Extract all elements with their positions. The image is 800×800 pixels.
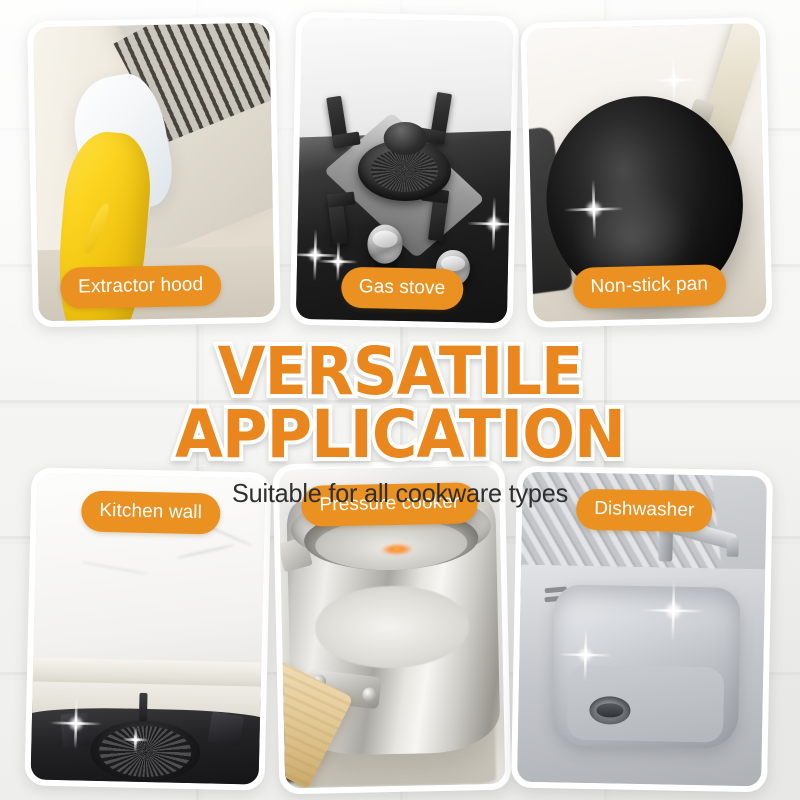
- panel-label-gas-stove[interactable]: Gas stove: [340, 267, 463, 311]
- panel-label-extractor-hood[interactable]: Extractor hood: [60, 265, 222, 309]
- panel-extractor-hood[interactable]: Extractor hood: [27, 17, 281, 328]
- page-title: VERSATILE APPLICATION: [24, 340, 776, 467]
- panel-non-stick-pan[interactable]: Non-stick pan: [520, 17, 772, 328]
- panel-kitchen-wall[interactable]: Kitchen wall: [24, 467, 271, 790]
- panel-gas-stove[interactable]: Gas stove: [290, 12, 520, 330]
- rim-light-glint: [381, 544, 412, 555]
- page-subtitle: Suitable for all cookware types: [12, 478, 788, 509]
- infographic-canvas: Extractor hood: [0, 0, 800, 800]
- panel-label-non-stick-pan[interactable]: Non-stick pan: [572, 264, 726, 309]
- panel-pressure-cooker[interactable]: Pressure cooker: [273, 460, 512, 795]
- headline-block: VERSATILE APPLICATION Suitable for all c…: [0, 340, 800, 509]
- panel-dishwasher[interactable]: Dishwasher: [511, 466, 773, 793]
